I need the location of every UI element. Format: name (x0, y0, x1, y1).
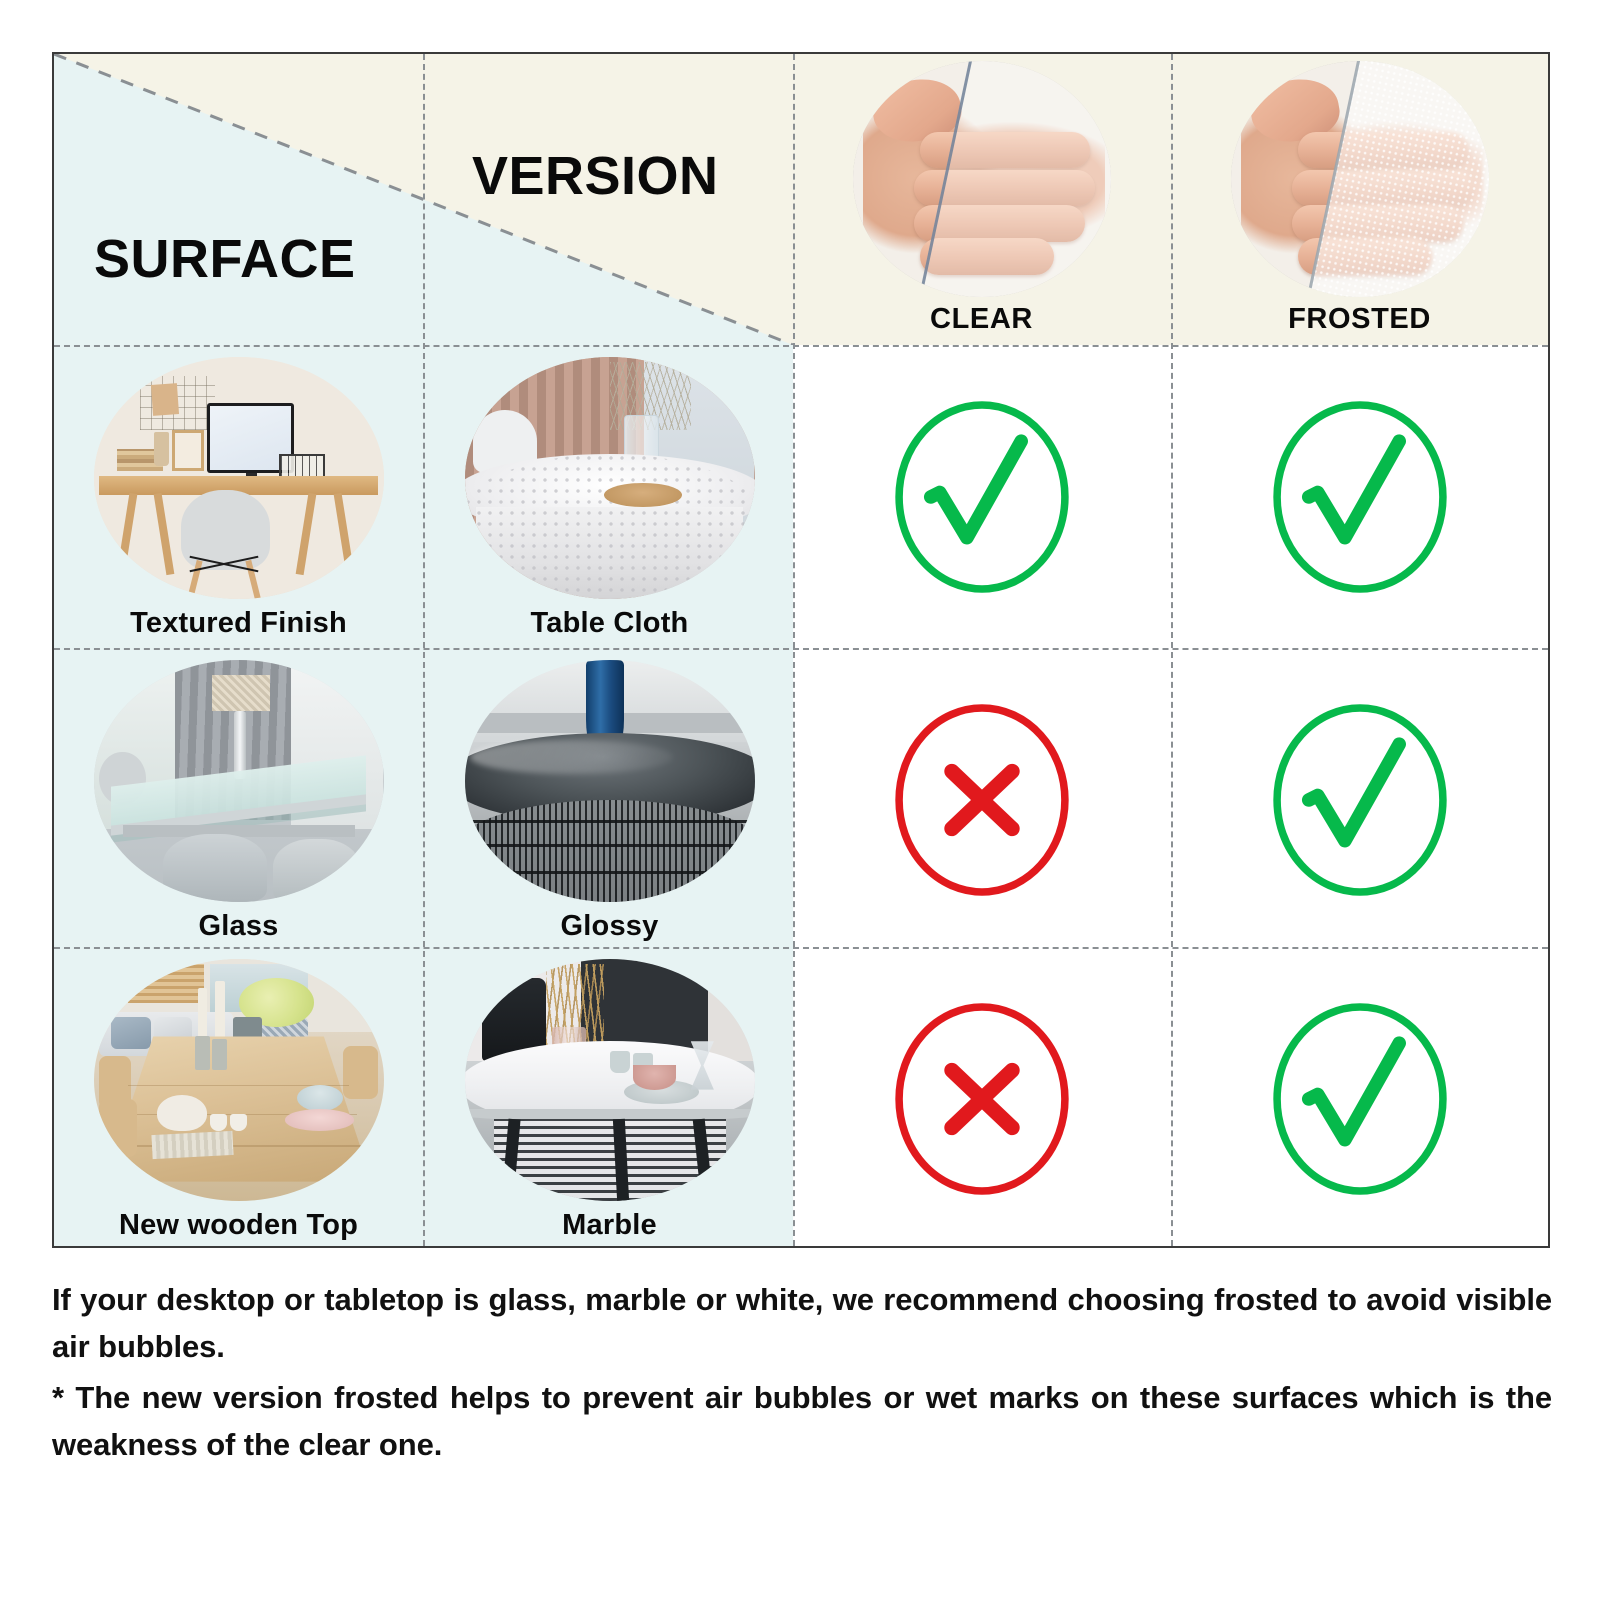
green-check-icon (1269, 399, 1451, 595)
surface-version-comparison-table: VERSION SURFACE CLEAR (52, 52, 1550, 1248)
hand-behind-clear-film-photo (853, 61, 1111, 297)
verdict-textured-finish-clear (793, 347, 1170, 647)
light-wood-dining-table-setting-photo (94, 959, 384, 1201)
footnotes: If your desktop or tabletop is glass, ma… (52, 1276, 1552, 1472)
verdict-new-wooden-top-frosted (1171, 949, 1548, 1249)
version-header-frosted-label: FROSTED (1288, 303, 1431, 336)
version-header-frosted: FROSTED (1171, 54, 1548, 345)
footnote-frosted-benefit: * The new version frosted helps to preve… (52, 1374, 1552, 1468)
surface-label-new-wooden-top: New wooden Top (119, 1209, 358, 1242)
lace-tablecloth-with-vase-photo (465, 357, 755, 599)
verdict-textured-finish-frosted (1171, 347, 1548, 647)
surface-label-table-cloth: Table Cloth (531, 607, 689, 640)
surface-cell-textured-finish: Textured Finish (54, 347, 423, 647)
surface-cell-table-cloth: Table Cloth (425, 347, 794, 647)
surface-cell-glossy: Glossy (425, 650, 794, 950)
version-header-clear-label: CLEAR (930, 303, 1033, 336)
hand-behind-frosted-film-photo (1231, 61, 1489, 297)
green-check-icon (891, 399, 1073, 595)
surface-label-marble: Marble (562, 1209, 657, 1242)
glass-dining-table-with-lamp-photo (94, 660, 384, 902)
surface-axis-label: SURFACE (94, 232, 356, 286)
verdict-new-wooden-top-clear (793, 949, 1170, 1249)
verdict-glass-clear (793, 650, 1170, 950)
wooden-desk-with-monitor-photo (94, 357, 384, 599)
green-check-icon (1269, 702, 1451, 898)
surface-label-glass: Glass (199, 910, 279, 943)
surface-cell-marble: Marble (425, 949, 794, 1249)
version-header-clear: CLEAR (793, 54, 1170, 345)
dark-glossy-round-table-with-blue-vase-photo (465, 660, 755, 902)
footnote-recommendation: If your desktop or tabletop is glass, ma… (52, 1276, 1552, 1370)
surface-label-textured-finish: Textured Finish (130, 607, 347, 640)
comparison-infographic: VERSION SURFACE CLEAR (0, 0, 1600, 1600)
surface-cell-glass: Glass (54, 650, 423, 950)
verdict-glass-frosted (1171, 650, 1548, 950)
green-check-icon (1269, 1001, 1451, 1197)
surface-label-glossy: Glossy (561, 910, 659, 943)
red-cross-icon (891, 702, 1073, 898)
red-cross-icon (891, 1001, 1073, 1197)
version-axis-label: VERSION (472, 149, 719, 203)
white-marble-round-table-photo (465, 959, 755, 1201)
surface-cell-new-wooden-top: New wooden Top (54, 949, 423, 1249)
